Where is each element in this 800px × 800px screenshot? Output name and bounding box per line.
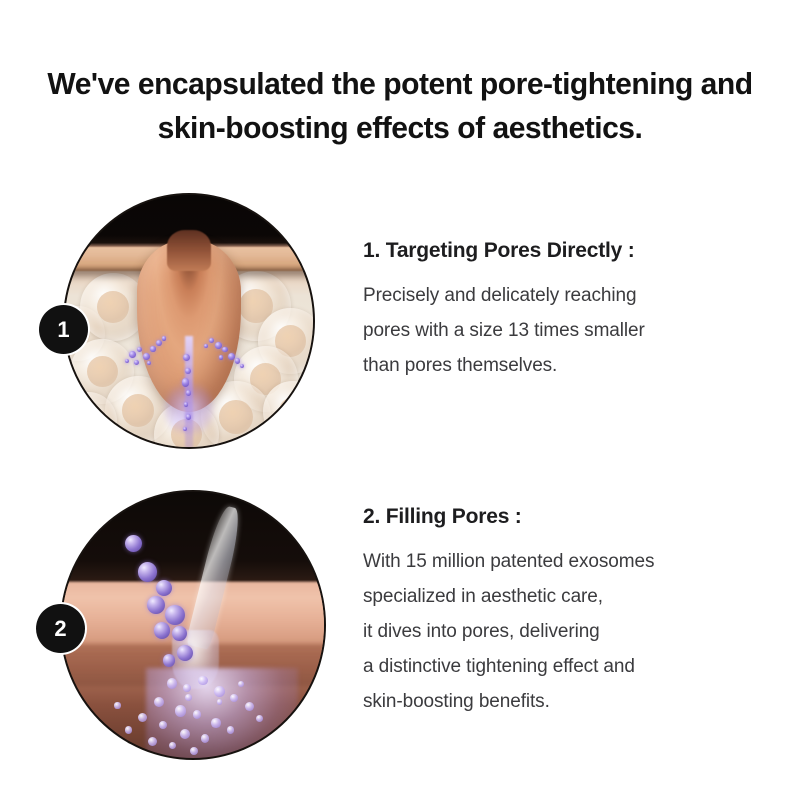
pore-cross-section-illustration: [65, 195, 313, 447]
step-2-body-line-1: With 15 million patented exosomes: [363, 544, 783, 579]
step-row-2: 2. Filling Pores : With 15 million paten…: [0, 486, 800, 766]
step-row-1: 1. Targeting Pores Directly : Precisely …: [0, 188, 800, 458]
step-2-number-badge: 2: [36, 604, 85, 653]
step-2-body-line-5: skin-boosting benefits.: [363, 684, 783, 719]
page-title-line-2: skin-boosting effects of aesthetics.: [6, 106, 794, 151]
step-2-image: [60, 490, 326, 760]
step-1-image: [63, 193, 315, 449]
step-2-body-line-2: specialized in aesthetic care,: [363, 579, 783, 614]
step-1-body-line-2: pores with a size 13 times smaller: [363, 313, 783, 348]
step-2-body: With 15 million patented exosomes specia…: [363, 544, 783, 719]
step-2-number-badge-label: 2: [54, 616, 66, 642]
step-1-body-line-3: than pores themselves.: [363, 348, 783, 383]
step-2-body-line-4: a distinctive tightening effect and: [363, 649, 783, 684]
step-1-text: 1. Targeting Pores Directly : Precisely …: [363, 236, 783, 383]
step-1-body-line-1: Precisely and delicately reaching: [363, 278, 783, 313]
step-1-number-badge: 1: [39, 305, 88, 354]
step-2-body-line-3: it dives into pores, delivering: [363, 614, 783, 649]
step-1-title: 1. Targeting Pores Directly :: [363, 236, 783, 266]
step-1-number-badge-label: 1: [57, 317, 69, 343]
infographic-page: We've encapsulated the potent pore-tight…: [0, 0, 800, 800]
exosome-injection-illustration: [62, 492, 324, 758]
step-1-body: Precisely and delicately reaching pores …: [363, 278, 783, 383]
page-title-line-1: We've encapsulated the potent pore-tight…: [6, 62, 794, 107]
step-2-title: 2. Filling Pores :: [363, 502, 783, 532]
page-title: We've encapsulated the potent pore-tight…: [6, 62, 794, 151]
step-2-text: 2. Filling Pores : With 15 million paten…: [363, 502, 783, 719]
